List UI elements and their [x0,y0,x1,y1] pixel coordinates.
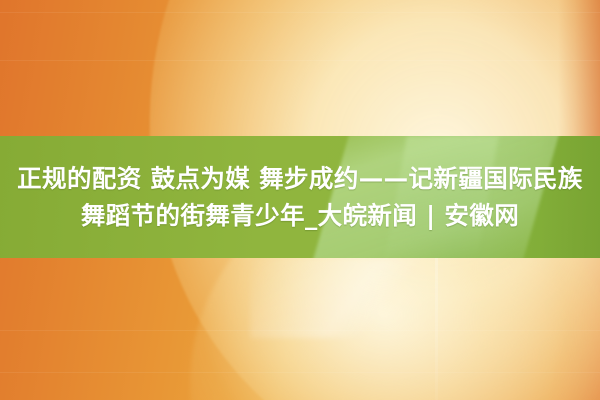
scanline-band [0,60,600,61]
right-edge-shadow [558,0,600,136]
vertical-facet-seam [435,258,438,400]
headline-block: 正规的配资 鼓点为媒 舞步成约——记新疆国际民族 舞蹈节的街舞青少年_大皖新闻 … [0,136,600,258]
banner-image: 正规的配资 鼓点为媒 舞步成约——记新疆国际民族 舞蹈节的街舞青少年_大皖新闻 … [0,0,600,400]
scanline-band [0,12,600,13]
headline-line-2: 舞蹈节的街舞青少年_大皖新闻 | 安徽网 [81,200,519,231]
scanline-band [0,372,600,373]
diagonal-facet-highlight [250,258,480,338]
headline-line-1: 正规的配资 鼓点为媒 舞步成约——记新疆国际民族 [17,163,583,194]
scanline-band [0,330,600,331]
